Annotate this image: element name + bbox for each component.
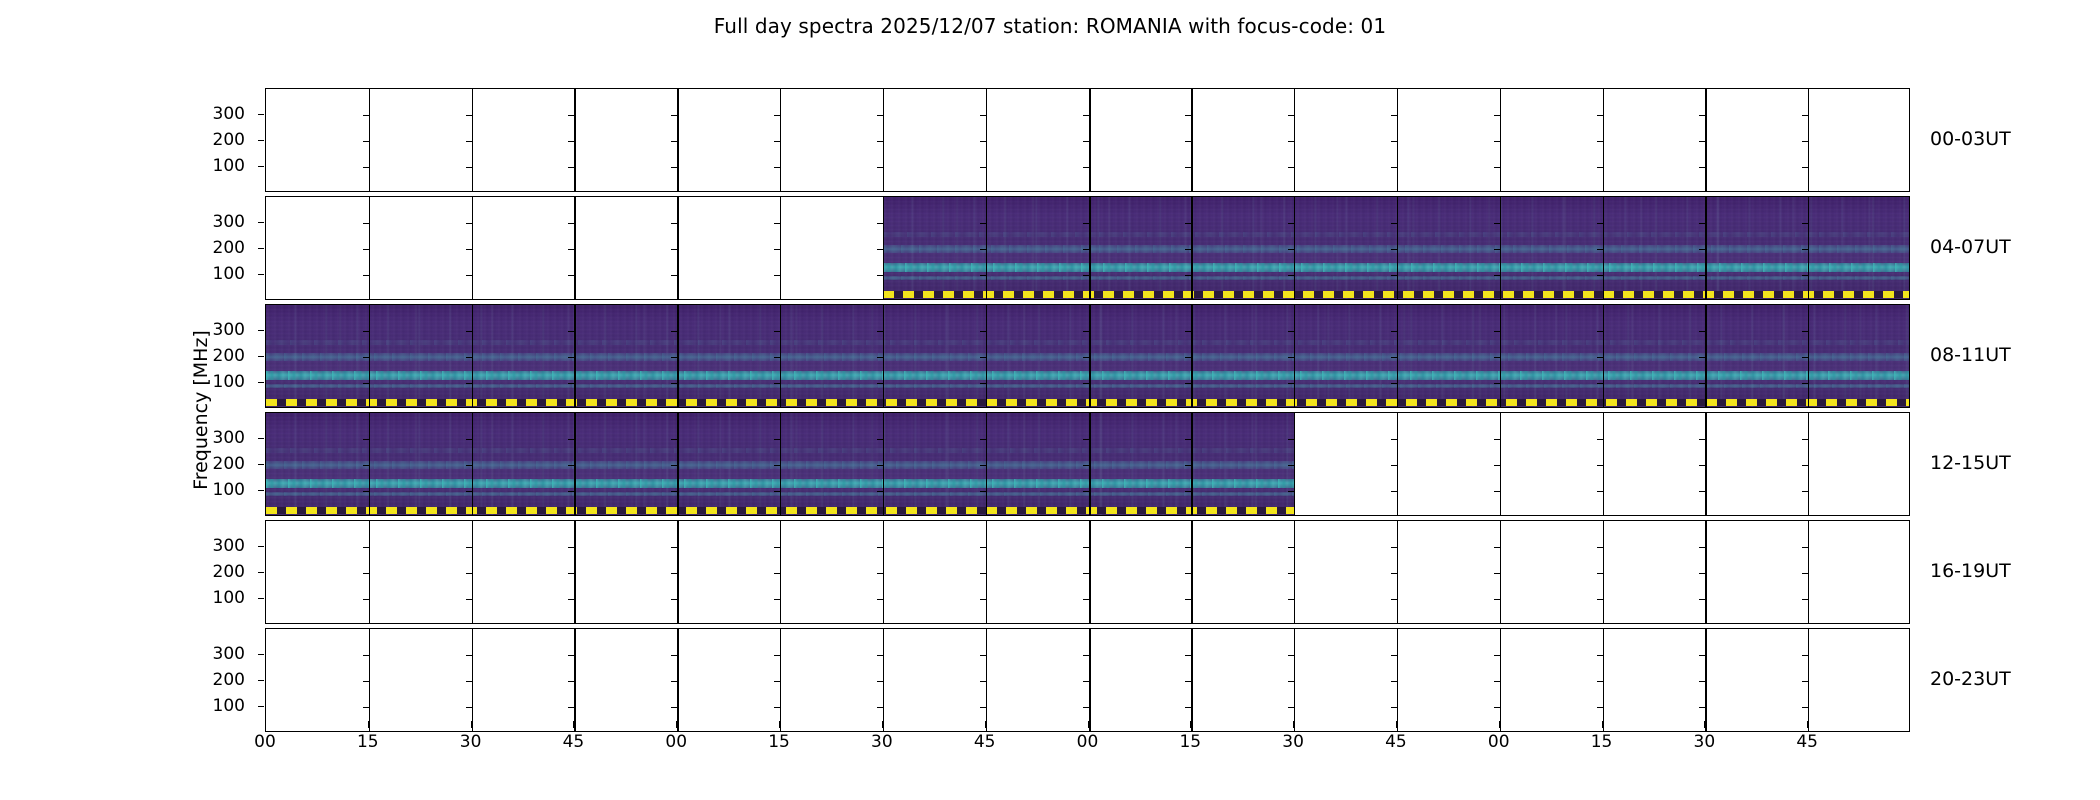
x-tick-mark [1704, 721, 1705, 728]
emission-band-lower [883, 276, 1910, 280]
subpanel-divider [1397, 413, 1398, 515]
inner-tick [1391, 439, 1397, 440]
inner-tick [1802, 167, 1808, 168]
x-tick-label: 45 [550, 732, 596, 752]
inner-tick [774, 707, 780, 708]
inner-tick [1391, 681, 1397, 682]
inner-tick [1391, 115, 1397, 116]
inner-tick [774, 681, 780, 682]
inner-tick [774, 167, 780, 168]
spectrogram-data-04-07ut [883, 197, 1910, 299]
inner-tick [1597, 599, 1603, 600]
inner-tick [1699, 167, 1705, 168]
inner-tick [363, 275, 369, 276]
x-tick-mark [1499, 721, 1500, 728]
inner-tick [1083, 547, 1089, 548]
inner-tick [1494, 599, 1500, 600]
x-tick-mark [779, 721, 780, 728]
inner-tick [363, 249, 369, 250]
inner-tick [466, 547, 472, 548]
x-tick-label: 30 [448, 732, 494, 752]
inner-tick [1185, 141, 1191, 142]
inner-tick [1494, 491, 1500, 492]
emission-band-primary [883, 263, 1910, 272]
y-tick-label: 200 [193, 238, 245, 258]
subpanel-divider [780, 629, 781, 731]
inner-tick [980, 167, 986, 168]
inner-tick [774, 599, 780, 600]
inner-tick [363, 115, 369, 116]
y-tick-mark [258, 706, 264, 707]
inner-tick [1185, 167, 1191, 168]
spectrogram-row-00-03ut[interactable] [265, 88, 1910, 192]
inner-tick [1597, 439, 1603, 440]
y-tick-label: 100 [193, 264, 245, 284]
inner-tick [877, 141, 883, 142]
inner-tick [671, 599, 677, 600]
inner-tick [1288, 707, 1294, 708]
inner-tick [1185, 599, 1191, 600]
y-tick-label: 300 [193, 644, 245, 664]
subpanel-divider [1808, 89, 1809, 191]
emission-band-primary [266, 479, 1294, 488]
x-tick-label: 30 [1270, 732, 1316, 752]
inner-tick [1391, 465, 1397, 466]
inner-tick [980, 115, 986, 116]
inner-tick [1288, 115, 1294, 116]
subpanel-divider [1705, 413, 1706, 515]
subpanel-divider [472, 89, 473, 191]
y-tick-label: 200 [193, 562, 245, 582]
inner-tick [466, 115, 472, 116]
spectrogram-row-20-23ut[interactable] [265, 628, 1910, 732]
inner-tick [1699, 115, 1705, 116]
subpanel-divider [1089, 629, 1091, 731]
inner-tick [1802, 655, 1808, 656]
x-tick-mark [265, 721, 266, 728]
subpanel-divider [574, 521, 575, 623]
inner-tick [363, 547, 369, 548]
x-tick-mark [985, 721, 986, 728]
inner-tick [774, 275, 780, 276]
inner-tick [1494, 439, 1500, 440]
x-tick-label: 30 [859, 732, 905, 752]
inner-tick [980, 141, 986, 142]
inner-tick [1802, 681, 1808, 682]
x-tick-label: 15 [1167, 732, 1213, 752]
inner-tick [1494, 681, 1500, 682]
inner-tick [363, 655, 369, 656]
subpanel-divider [1089, 89, 1091, 191]
inner-tick [568, 681, 574, 682]
inner-tick [1288, 547, 1294, 548]
subpanel-divider [1705, 521, 1706, 623]
inner-tick [466, 707, 472, 708]
x-tick-label: 45 [962, 732, 1008, 752]
inner-tick [877, 681, 883, 682]
y-tick-mark [258, 546, 264, 547]
inner-tick [1597, 167, 1603, 168]
subpanel-divider [883, 89, 884, 191]
inner-tick [1185, 547, 1191, 548]
inner-tick [1083, 141, 1089, 142]
subpanel-divider [369, 521, 370, 623]
subpanel-divider [1294, 521, 1295, 623]
inner-tick [466, 655, 472, 656]
inner-tick [568, 167, 574, 168]
inner-tick [363, 599, 369, 600]
subpanel-divider [780, 89, 781, 191]
inner-tick [671, 707, 677, 708]
subpanel-divider [472, 629, 473, 731]
subpanel-divider [1294, 629, 1295, 731]
inner-tick [363, 167, 369, 168]
inner-tick [1083, 707, 1089, 708]
subpanel-divider [1500, 521, 1501, 623]
x-tick-mark [1602, 721, 1603, 728]
inner-tick [363, 707, 369, 708]
x-tick-label: 15 [345, 732, 391, 752]
subpanel-divider [1705, 629, 1706, 731]
subpanel-divider [883, 629, 884, 731]
inner-tick [1185, 115, 1191, 116]
inner-tick [671, 275, 677, 276]
y-tick-mark [258, 572, 264, 573]
x-tick-label: 00 [242, 732, 288, 752]
spectrogram-data-08-11ut [266, 305, 1910, 407]
subpanel-divider [1089, 521, 1091, 623]
y-tick-label: 100 [193, 480, 245, 500]
inner-tick [1288, 655, 1294, 656]
subpanel-divider [1397, 629, 1398, 731]
subpanel-divider [369, 89, 370, 191]
row-time-label-12-15ut: 12-15UT [1930, 452, 2011, 474]
x-tick-mark [882, 721, 883, 728]
inner-tick [1699, 491, 1705, 492]
inner-tick [877, 599, 883, 600]
subpanel-divider [1603, 629, 1604, 731]
inner-tick [671, 223, 677, 224]
subpanel-divider [1397, 521, 1398, 623]
inner-tick [466, 249, 472, 250]
inner-tick [568, 707, 574, 708]
y-tick-label: 100 [193, 156, 245, 176]
y-tick-label: 300 [193, 428, 245, 448]
inner-tick [774, 115, 780, 116]
row-time-label-08-11ut: 08-11UT [1930, 344, 2011, 366]
emission-band-secondary [883, 245, 1910, 253]
inner-tick [1699, 655, 1705, 656]
inner-tick [1802, 465, 1808, 466]
inner-tick [1597, 681, 1603, 682]
inner-tick [1597, 707, 1603, 708]
inner-tick [1597, 491, 1603, 492]
subpanel-divider [574, 89, 575, 191]
inner-tick [1597, 547, 1603, 548]
y-tick-mark [258, 114, 264, 115]
subpanel-divider [677, 197, 678, 299]
inner-tick [980, 707, 986, 708]
emission-band-primary [266, 371, 1910, 380]
subpanel-divider [1191, 89, 1192, 191]
inner-tick [1185, 573, 1191, 574]
marker-dashed-line [883, 291, 1910, 298]
y-tick-label: 100 [193, 372, 245, 392]
y-tick-mark [258, 166, 264, 167]
inner-tick [1288, 167, 1294, 168]
inner-tick [877, 655, 883, 656]
marker-dashed-line [266, 399, 1910, 406]
inner-tick [671, 573, 677, 574]
y-tick-mark [258, 140, 264, 141]
y-tick-mark [258, 654, 264, 655]
inner-tick [1494, 115, 1500, 116]
subpanel-divider [677, 521, 678, 623]
inner-tick [774, 573, 780, 574]
y-tick-mark [258, 382, 264, 383]
inner-tick [568, 141, 574, 142]
inner-tick [1699, 439, 1705, 440]
inner-tick [774, 249, 780, 250]
inner-tick [466, 167, 472, 168]
subpanel-divider [574, 197, 575, 299]
inner-tick [1597, 573, 1603, 574]
inner-tick [1699, 681, 1705, 682]
subpanel-divider [369, 629, 370, 731]
inner-tick [1494, 141, 1500, 142]
inner-tick [1494, 167, 1500, 168]
y-tick-mark [258, 464, 264, 465]
inner-tick [1802, 599, 1808, 600]
emission-band-secondary [266, 461, 1294, 469]
inner-tick [466, 275, 472, 276]
inner-tick [1185, 655, 1191, 656]
inner-tick [568, 573, 574, 574]
inner-tick [1391, 599, 1397, 600]
inner-tick [363, 573, 369, 574]
subpanel-divider [986, 89, 987, 191]
emission-band-lower [266, 492, 1294, 496]
inner-tick [671, 249, 677, 250]
y-tick-mark [258, 330, 264, 331]
row-time-label-00-03ut: 00-03UT [1930, 128, 2011, 150]
spectrogram-data-12-15ut [266, 413, 1294, 515]
inner-tick [774, 547, 780, 548]
spectrogram-row-16-19ut[interactable] [265, 520, 1910, 624]
x-tick-label: 15 [756, 732, 802, 752]
subpanel-divider [986, 629, 987, 731]
inner-tick [1494, 707, 1500, 708]
inner-tick [1288, 681, 1294, 682]
spectrogram-row-12-15ut[interactable] [265, 412, 1910, 516]
inner-tick [1699, 573, 1705, 574]
inner-tick [774, 223, 780, 224]
y-tick-label: 300 [193, 104, 245, 124]
inner-tick [363, 223, 369, 224]
inner-tick [877, 547, 883, 548]
y-tick-mark [258, 222, 264, 223]
emission-band-faint [266, 340, 1910, 345]
subpanel-divider [1191, 629, 1192, 731]
inner-tick [1391, 573, 1397, 574]
inner-tick [568, 249, 574, 250]
inner-tick [1494, 655, 1500, 656]
inner-tick [1391, 547, 1397, 548]
figure-title: Full day spectra 2025/12/07 station: ROM… [0, 14, 2100, 38]
inner-tick [1083, 681, 1089, 682]
row-time-label-16-19ut: 16-19UT [1930, 560, 2011, 582]
inner-tick [568, 655, 574, 656]
inner-tick [466, 599, 472, 600]
inner-tick [1083, 599, 1089, 600]
subpanel-divider [780, 521, 781, 623]
inner-tick [671, 167, 677, 168]
y-tick-label: 200 [193, 454, 245, 474]
x-tick-mark [1396, 721, 1397, 728]
inner-tick [1494, 573, 1500, 574]
x-tick-label: 15 [1579, 732, 1625, 752]
inner-tick [980, 681, 986, 682]
subpanel-divider [677, 89, 678, 191]
inner-tick [1185, 681, 1191, 682]
inner-tick [568, 547, 574, 548]
subpanel-divider [1808, 413, 1809, 515]
inner-tick [466, 141, 472, 142]
subpanel-divider [1705, 89, 1706, 191]
subpanel-divider [1397, 89, 1398, 191]
subpanel-divider [780, 197, 781, 299]
inner-tick [466, 681, 472, 682]
y-tick-mark [258, 274, 264, 275]
y-tick-mark [258, 356, 264, 357]
marker-dashed-line [266, 507, 1294, 514]
inner-tick [1597, 141, 1603, 142]
inner-tick [877, 573, 883, 574]
inner-tick [1802, 141, 1808, 142]
inner-tick [568, 115, 574, 116]
y-tick-mark [258, 248, 264, 249]
subpanel-divider [574, 629, 575, 731]
inner-tick [774, 655, 780, 656]
subpanel-divider [677, 629, 678, 731]
y-tick-mark [258, 680, 264, 681]
subpanel-divider [1294, 89, 1295, 191]
x-tick-label: 00 [653, 732, 699, 752]
y-tick-label: 200 [193, 670, 245, 690]
emission-band-secondary [266, 353, 1910, 361]
inner-tick [1802, 115, 1808, 116]
x-tick-mark [1293, 721, 1294, 728]
subpanel-divider [472, 197, 473, 299]
x-tick-mark [1807, 721, 1808, 728]
x-tick-mark [1088, 721, 1089, 728]
x-tick-label: 30 [1681, 732, 1727, 752]
inner-tick [1699, 707, 1705, 708]
inner-tick [1699, 141, 1705, 142]
y-tick-mark [258, 490, 264, 491]
subpanel-divider [1808, 629, 1809, 731]
subpanel-divider [369, 197, 370, 299]
spectrogram-row-08-11ut[interactable] [265, 304, 1910, 408]
inner-tick [1494, 547, 1500, 548]
inner-tick [363, 141, 369, 142]
subpanel-separators [266, 629, 1909, 731]
inner-tick [568, 275, 574, 276]
inner-tick [1083, 573, 1089, 574]
inner-tick [671, 681, 677, 682]
inner-tick [1597, 465, 1603, 466]
inner-tick [877, 167, 883, 168]
y-tick-label: 300 [193, 320, 245, 340]
subpanel-divider [1808, 521, 1809, 623]
y-tick-mark [258, 438, 264, 439]
inner-tick [568, 599, 574, 600]
inner-tick [877, 115, 883, 116]
inner-tick [1391, 141, 1397, 142]
y-tick-label: 300 [193, 536, 245, 556]
y-tick-label: 300 [193, 212, 245, 232]
inner-tick [877, 707, 883, 708]
subpanel-divider [1603, 89, 1604, 191]
inner-tick [466, 573, 472, 574]
emission-band-faint [883, 232, 1910, 237]
subpanel-separators [266, 89, 1909, 191]
inner-tick [1288, 599, 1294, 600]
inner-tick [568, 223, 574, 224]
inner-tick [1288, 141, 1294, 142]
y-tick-label: 100 [193, 696, 245, 716]
inner-tick [1597, 115, 1603, 116]
y-tick-mark [258, 598, 264, 599]
inner-tick [671, 547, 677, 548]
x-tick-mark [573, 721, 574, 728]
inner-tick [1802, 573, 1808, 574]
row-time-label-20-23ut: 20-23UT [1930, 668, 2011, 690]
inner-tick [1083, 167, 1089, 168]
inner-tick [466, 223, 472, 224]
y-tick-label: 100 [193, 588, 245, 608]
inner-tick [1802, 491, 1808, 492]
subpanel-divider [1500, 89, 1501, 191]
subpanel-divider [1294, 413, 1295, 515]
inner-tick [671, 655, 677, 656]
inner-tick [1391, 655, 1397, 656]
emission-band-faint [266, 448, 1294, 453]
inner-tick [1699, 465, 1705, 466]
y-tick-label: 200 [193, 130, 245, 150]
subpanel-divider [472, 521, 473, 623]
inner-tick [1699, 599, 1705, 600]
inner-tick [1391, 167, 1397, 168]
x-tick-label: 45 [1784, 732, 1830, 752]
inner-tick [1288, 573, 1294, 574]
row-time-label-04-07ut: 04-07UT [1930, 236, 2011, 258]
inner-tick [1494, 465, 1500, 466]
inner-tick [980, 573, 986, 574]
inner-tick [980, 547, 986, 548]
inner-tick [1802, 707, 1808, 708]
inner-tick [363, 681, 369, 682]
subpanel-divider [1191, 521, 1192, 623]
x-tick-label: 00 [1476, 732, 1522, 752]
inner-tick [671, 115, 677, 116]
inner-tick [1699, 547, 1705, 548]
spectrogram-row-04-07ut[interactable] [265, 196, 1910, 300]
subpanel-separators [266, 521, 1909, 623]
inner-tick [1802, 547, 1808, 548]
x-tick-mark [471, 721, 472, 728]
inner-tick [1391, 491, 1397, 492]
